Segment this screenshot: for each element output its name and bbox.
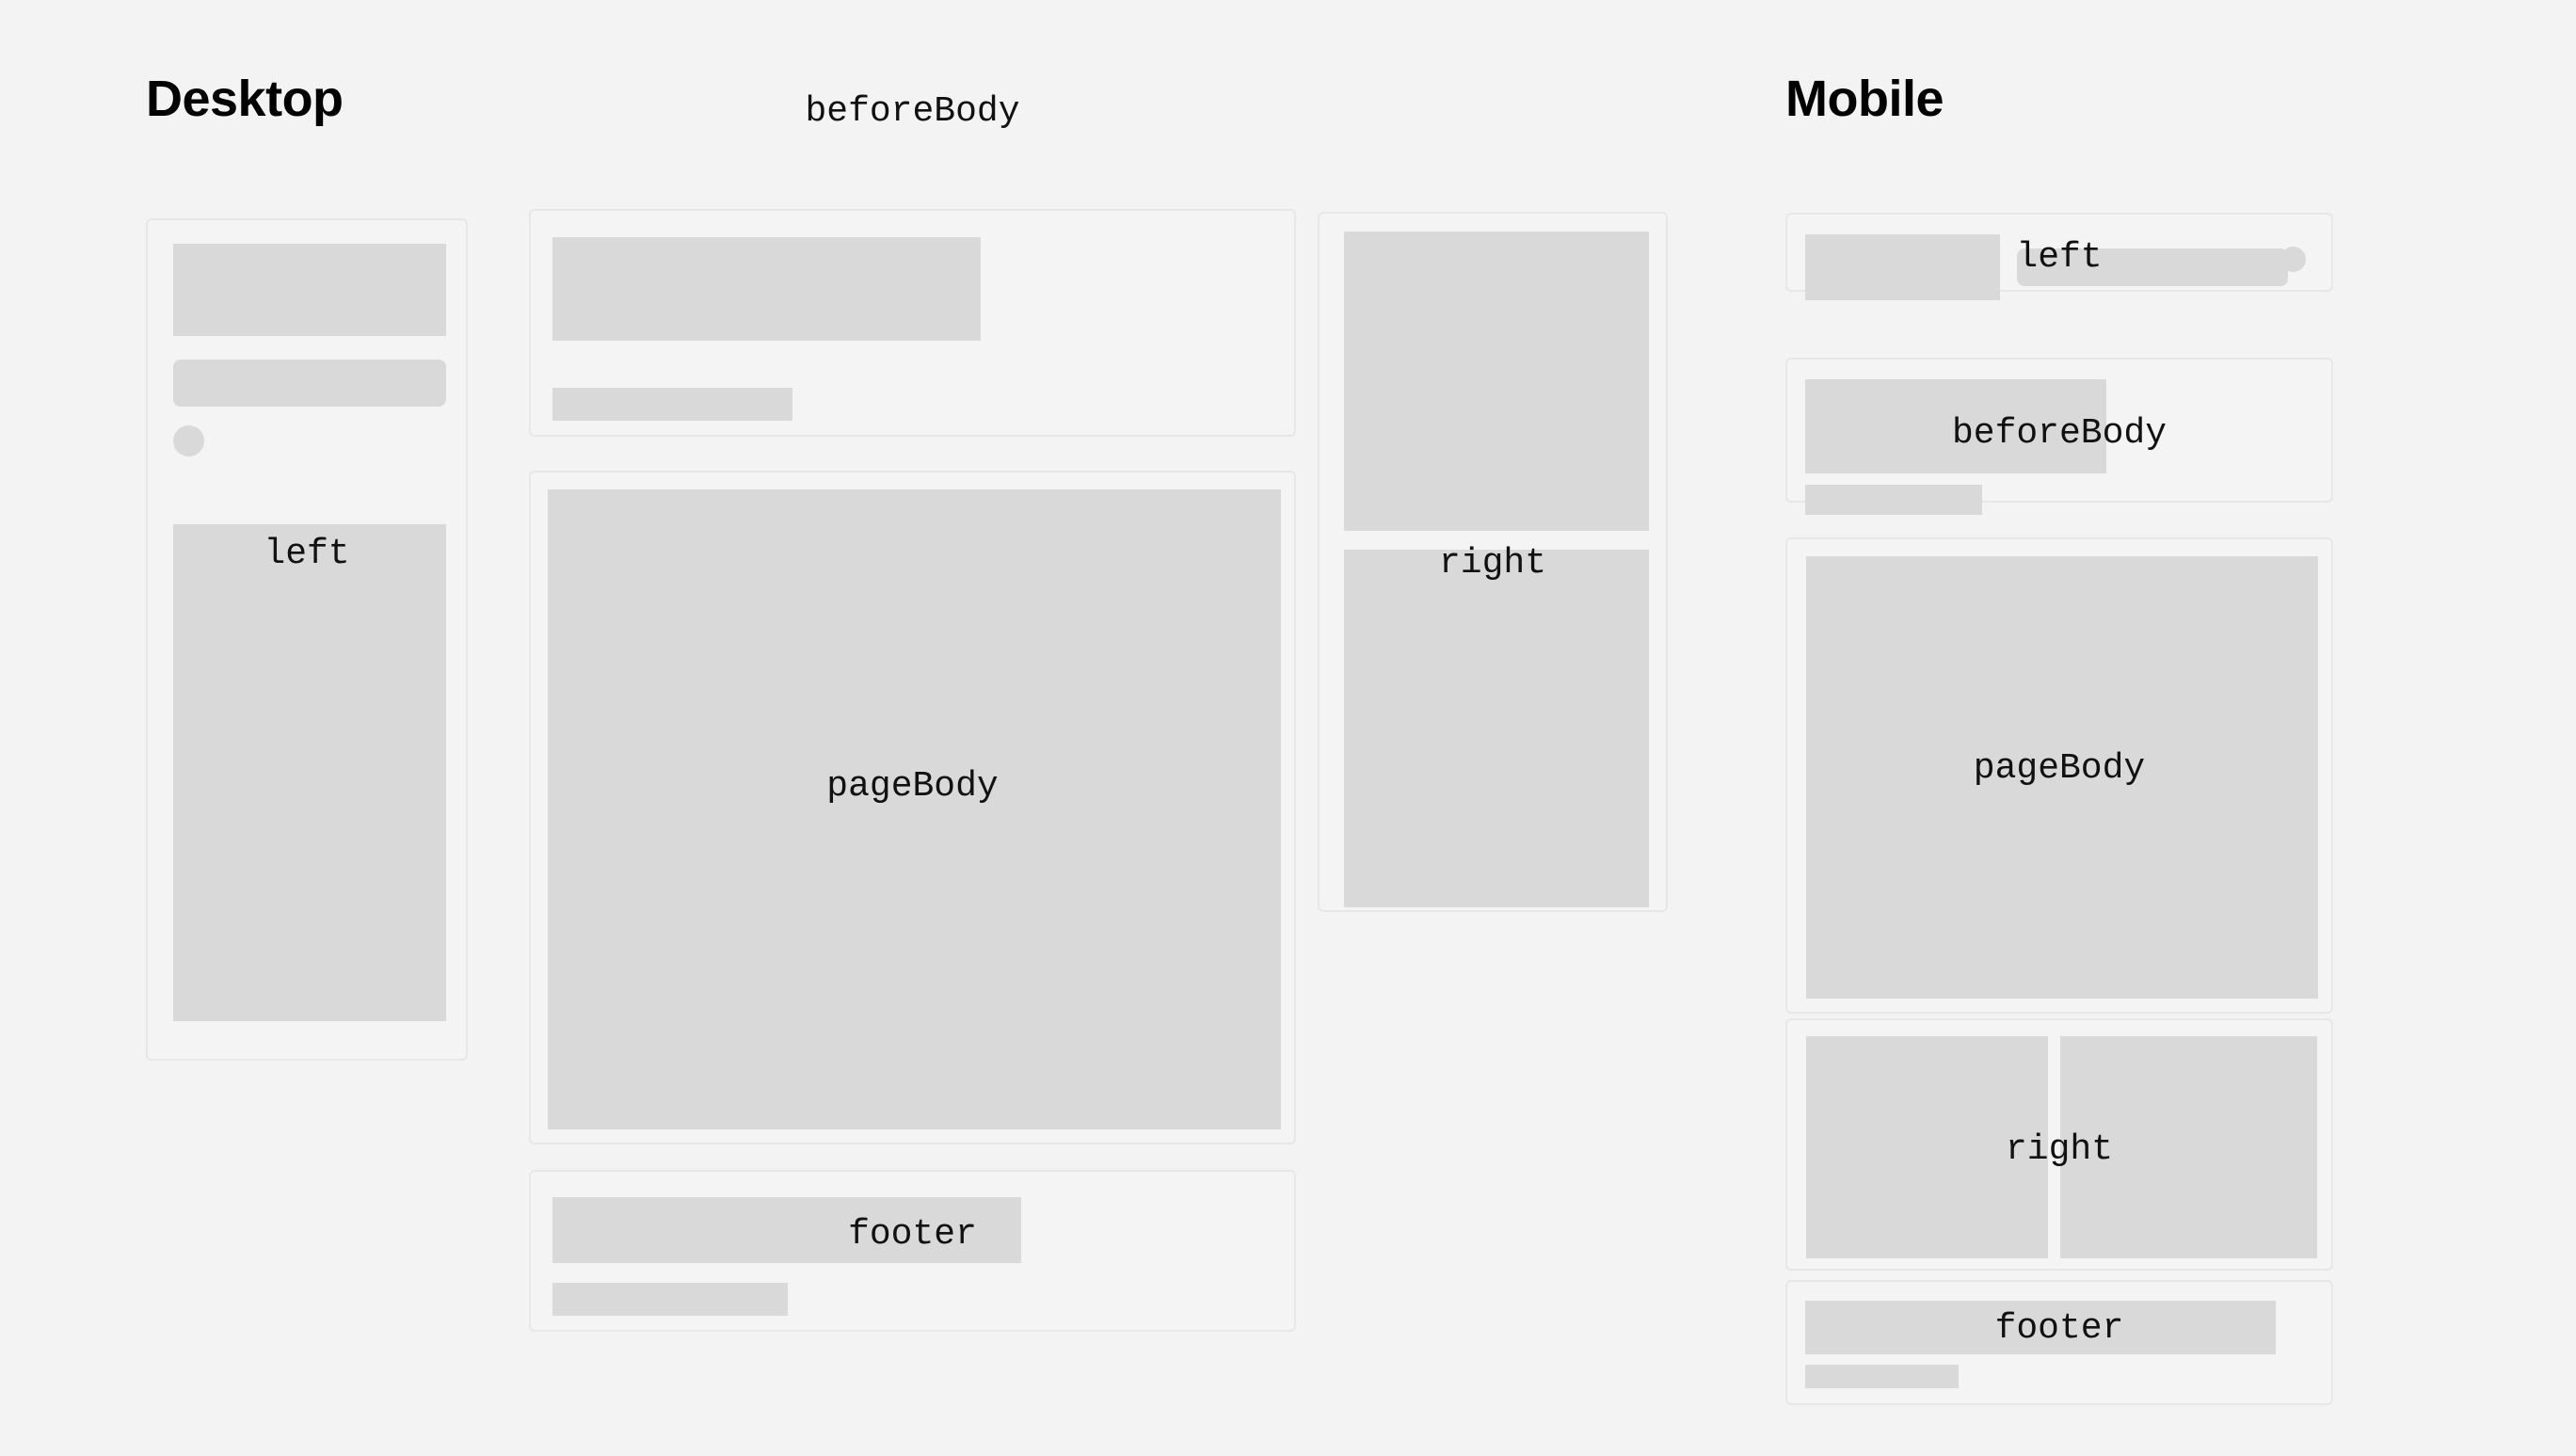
skeleton-block-col-left [1806,1036,2048,1258]
skeleton-bar-short [1805,1365,1959,1388]
desktop-pagebody-slot-panel[interactable] [529,471,1296,1144]
mobile-footer-slot-panel[interactable] [1785,1280,2333,1405]
desktop-left-slot-panel[interactable] [146,218,468,1061]
mobile-section-title: Mobile [1785,73,1944,124]
skeleton-block-large [173,244,446,336]
skeleton-block-col-right [2060,1036,2317,1258]
skeleton-block-wide [1805,1301,2276,1354]
skeleton-bar-short [1805,485,1982,515]
layout-preview-canvas: Desktop left beforeBody pageBody footer … [0,0,2576,1456]
skeleton-block-rect [1805,234,2000,300]
skeleton-bar-short [552,388,792,421]
skeleton-bar-short [552,1283,788,1316]
skeleton-avatar-circle [173,425,204,456]
skeleton-bar-rounded [2017,248,2288,286]
skeleton-block-wide [1805,379,2106,473]
mobile-right-slot-panel[interactable] [1785,1018,2333,1271]
mobile-left-slot-panel[interactable] [1785,213,2333,292]
mobile-pagebody-slot-panel[interactable] [1785,537,2333,1014]
skeleton-block-top [1344,232,1649,531]
skeleton-block-wide [552,237,981,341]
skeleton-block-tall [173,524,446,1021]
desktop-beforebody-slot-label: beforeBody [529,94,1296,130]
skeleton-bar-rounded [173,360,446,407]
skeleton-block-bottom [1344,550,1649,907]
desktop-beforebody-slot-panel[interactable] [529,209,1296,437]
skeleton-avatar-circle [2280,247,2306,272]
skeleton-block-fill [548,489,1281,1129]
mobile-beforebody-slot-panel[interactable] [1785,358,2333,503]
desktop-right-slot-panel[interactable] [1318,212,1668,912]
desktop-section-title: Desktop [146,73,344,124]
skeleton-block-fill [1806,556,2318,999]
skeleton-block-wide [552,1197,1021,1263]
desktop-footer-slot-panel[interactable] [529,1170,1296,1332]
